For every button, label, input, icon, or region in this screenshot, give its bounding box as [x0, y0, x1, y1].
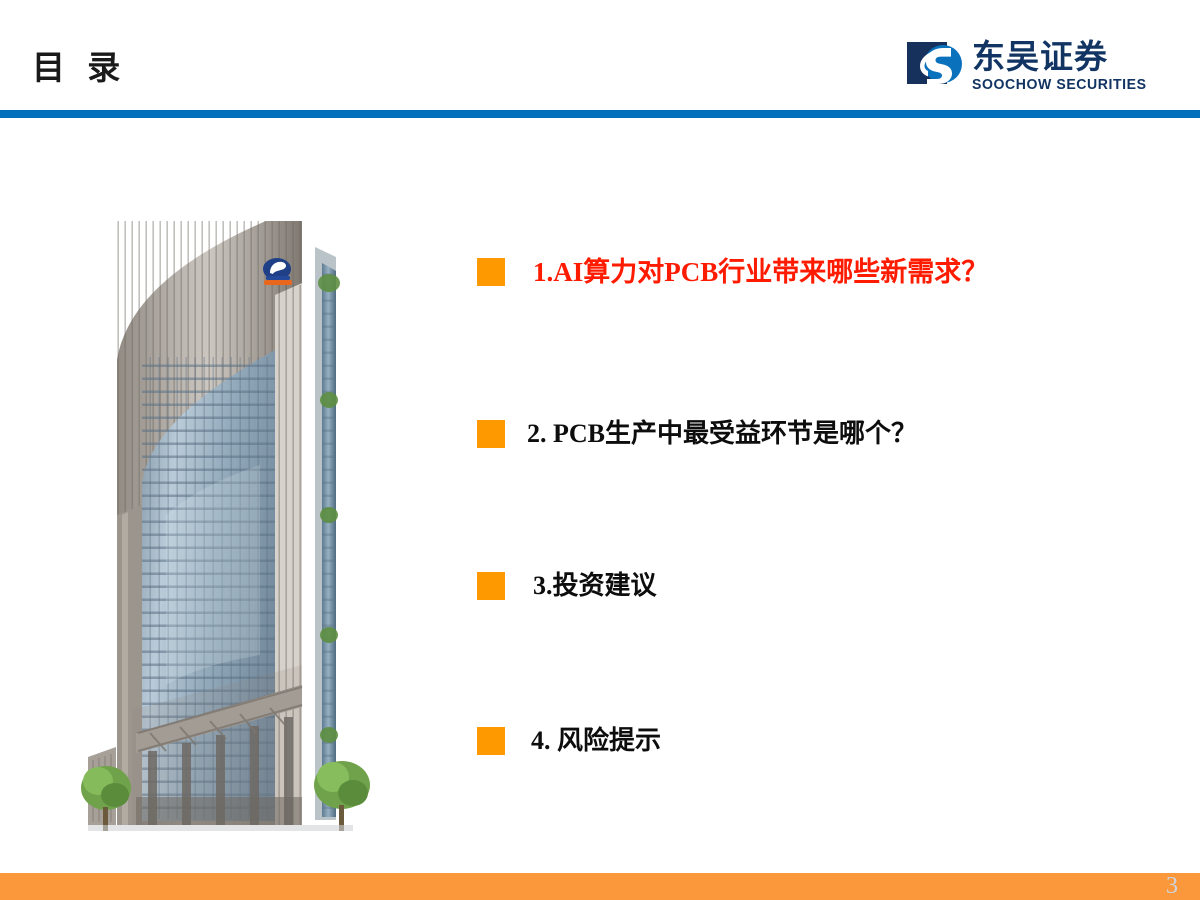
- agenda-item-2[interactable]: 2. PCB生产中最受益环节是哪个？: [477, 420, 917, 448]
- agenda-item-1-label: 1.AI算力对PCB行业带来哪些新需求？: [533, 259, 988, 286]
- soochow-securities-logo-mark: [907, 40, 963, 96]
- footer-bar: 3: [0, 873, 1200, 900]
- brand-logo: 东吴证券 SOOCHOW SECURITIES: [907, 40, 1152, 96]
- bullet-square-icon: [477, 572, 505, 600]
- headquarters-building-photo: [70, 185, 400, 845]
- agenda-item-1[interactable]: 1.AI算力对PCB行业带来哪些新需求？: [477, 258, 988, 286]
- logo-chinese-name: 东吴证券: [972, 42, 1152, 76]
- bullet-square-icon: [477, 258, 505, 286]
- header-divider: [0, 110, 1200, 118]
- agenda-item-4[interactable]: 4. 风险提示: [477, 727, 661, 755]
- bullet-square-icon: [477, 420, 505, 448]
- slide: 目 录 东吴证券 SOOCHOW SECURITIES: [0, 0, 1200, 900]
- agenda-item-2-label: 2. PCB生产中最受益环节是哪个？: [527, 421, 917, 447]
- logo-wordmark: 东吴证券 SOOCHOW SECURITIES: [972, 40, 1152, 94]
- agenda-item-4-label: 4. 风险提示: [531, 728, 661, 754]
- logo-english-name: SOOCHOW SECURITIES: [972, 78, 1147, 94]
- page-title: 目 录: [32, 53, 127, 86]
- agenda-item-3[interactable]: 3.投资建议: [477, 572, 657, 600]
- page-number: 3: [1166, 873, 1178, 899]
- bullet-square-icon: [477, 727, 505, 755]
- agenda-item-3-label: 3.投资建议: [533, 573, 657, 599]
